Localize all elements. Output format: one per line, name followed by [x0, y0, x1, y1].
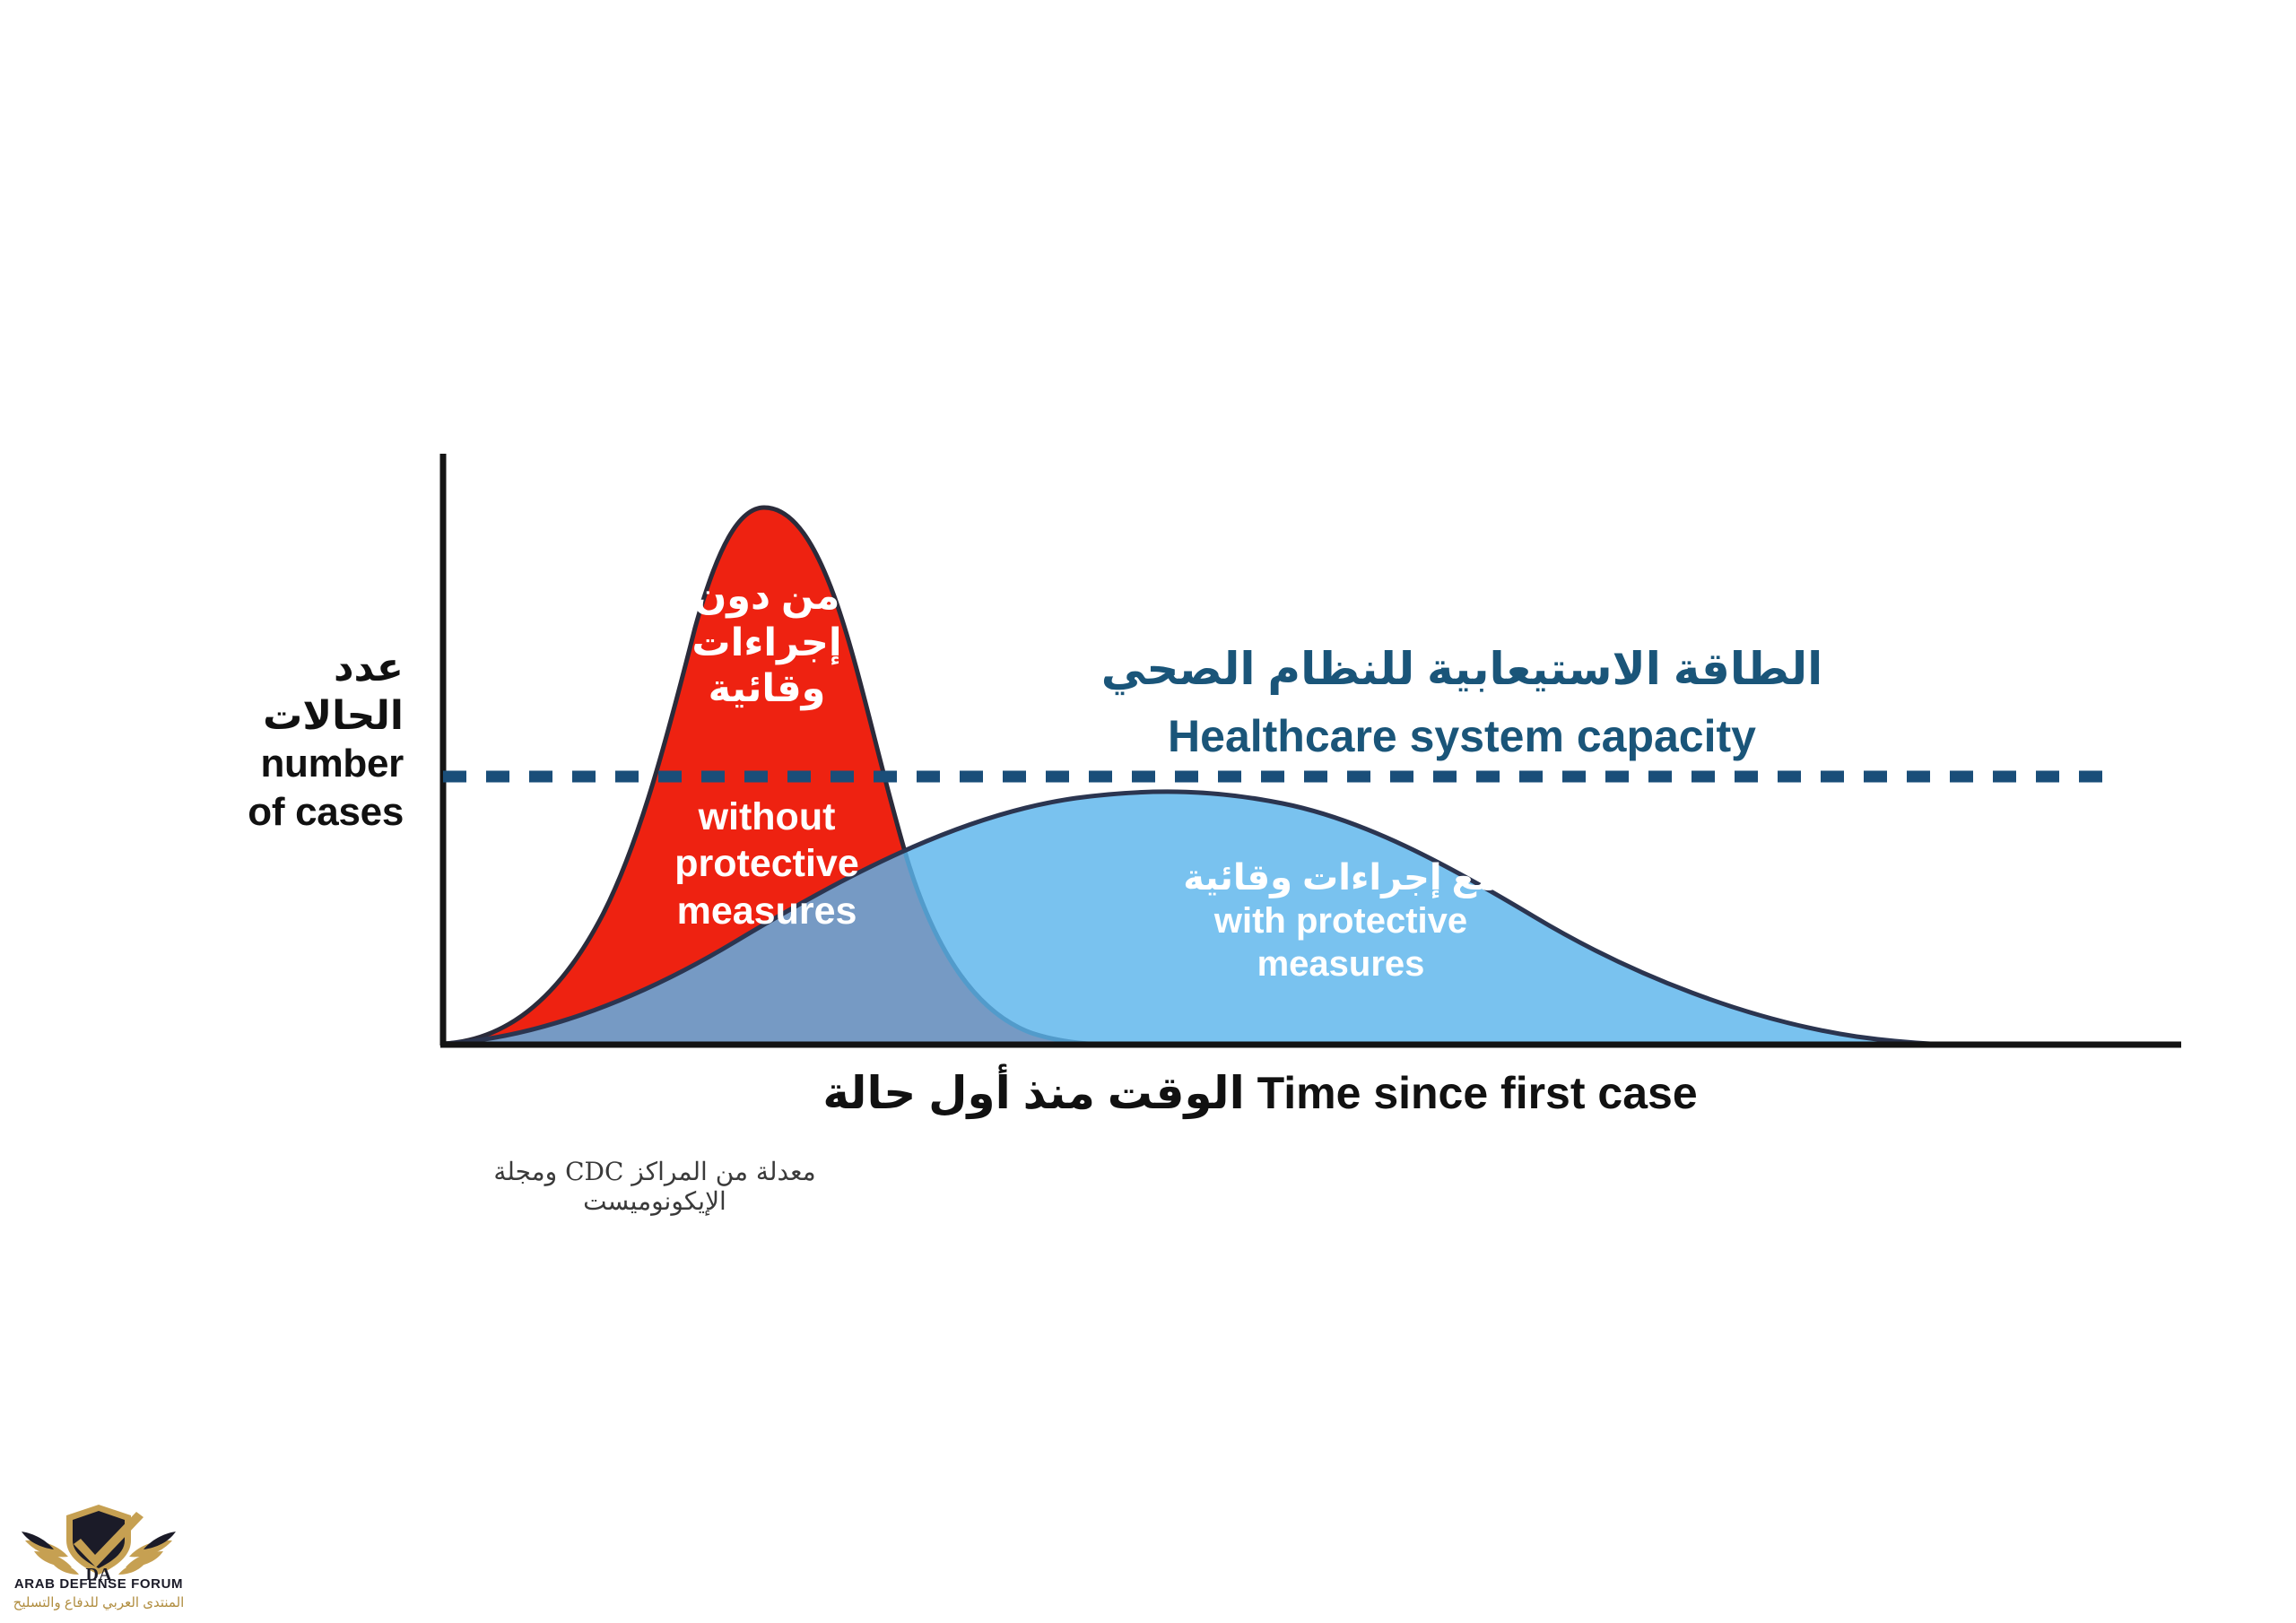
source-credit: معدلة من المراكز CDC ومجلة الإيكونوميست [422, 1157, 888, 1216]
x-axis-label: Time since first case الوقت منذ أول حالة [789, 1067, 1731, 1119]
red-curve-label-english: without protective measures [619, 794, 915, 934]
infographic-canvas: عدد الحالات number of cases من دون إجراء… [0, 0, 2296, 1623]
healthcare-capacity-label-arabic: الطاقة الاستيعابية للنظام الصحي [1090, 644, 1834, 695]
healthcare-capacity-label-english: Healthcare system capacity [1090, 711, 1834, 762]
watermark-name-arabic: المنتدى العربي للدفاع والتسليح [11, 1594, 187, 1610]
blue-curve-label: مع إجراءات وقائية with protective measur… [1148, 856, 1534, 985]
shield-laurel-logo-icon: DA [11, 1499, 187, 1582]
arab-defense-forum-watermark: DA ARAB DEFENSE FORUM المنتدى العربي للد… [11, 1499, 187, 1618]
red-curve-label-arabic: من دون إجراءات وقائية [619, 574, 915, 713]
watermark-name-english: ARAB DEFENSE FORUM [11, 1576, 187, 1592]
healthcare-capacity-label: الطاقة الاستيعابية للنظام الصحي Healthca… [1090, 628, 1834, 779]
y-axis-label: عدد الحالات number of cases [143, 644, 404, 837]
